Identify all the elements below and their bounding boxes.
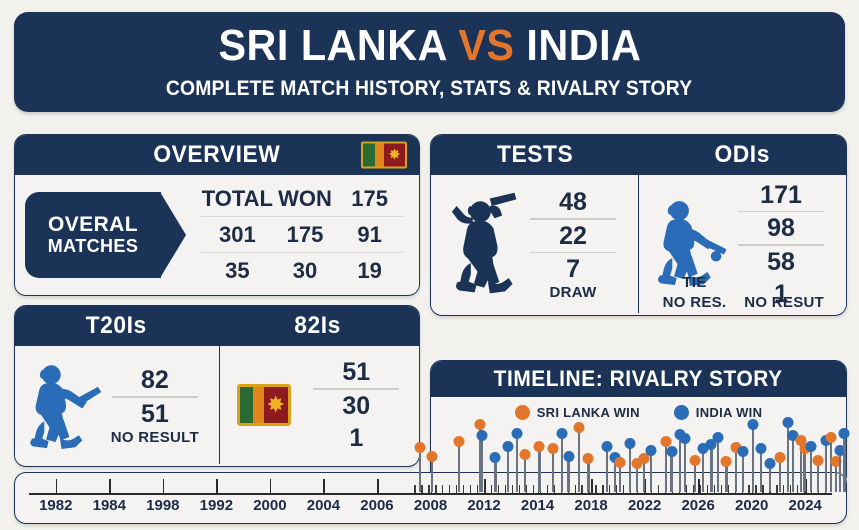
batsman-navy-icon: [431, 188, 522, 300]
title-vs: VS: [458, 21, 514, 70]
axis-minor-tick: [602, 485, 603, 493]
odis-no-resut-label: NO RESUT: [730, 295, 838, 312]
axis-tick: [431, 479, 433, 493]
axis-minor-tick: [825, 485, 826, 493]
axis-minor-tick: [477, 485, 478, 493]
sri-lanka-flag-icon: ✸: [361, 142, 407, 169]
axis-inner: 1982198419981992200020042006200820122014…: [15, 473, 846, 523]
axis-minor-tick: [728, 485, 729, 493]
legend-label: INDIA WIN: [696, 405, 763, 420]
82is-value-2: 30: [342, 390, 370, 422]
82is-stats: 51 30 1: [308, 356, 419, 454]
axis-minor-tick: [491, 485, 492, 493]
axis-minor-tick: [595, 485, 596, 493]
t20is-value-2: 51: [141, 398, 169, 430]
tests-title: TESTS: [497, 141, 573, 169]
axis-minor-tick: [686, 485, 687, 493]
axis-tick: [56, 479, 58, 493]
82is-column: ✸ 51 30 1: [219, 346, 419, 464]
axis-minor-tick: [428, 485, 429, 493]
table-row: 35 30 19: [201, 252, 403, 288]
axis-minor-tick: [512, 485, 513, 493]
title-team-2: INDIA: [526, 21, 641, 70]
axis-minor-tick: [637, 485, 638, 493]
cell-value: 175: [336, 186, 403, 212]
axis-tick: [323, 479, 325, 493]
axis-tick: [216, 479, 218, 493]
axis-minor-tick: [665, 485, 666, 493]
legend-dot-orange: [515, 405, 530, 420]
title-team-1: SRI LANKA: [218, 21, 446, 70]
axis-minor-tick: [818, 485, 819, 493]
axis-label: 2026: [681, 497, 714, 514]
cell-value: 91: [336, 222, 403, 248]
axis-minor-tick: [783, 485, 784, 493]
cell-won: 175: [274, 222, 337, 248]
page-header: SRI LANKA VS INDIA COMPLETE MATCH HISTOR…: [14, 12, 845, 112]
axis-minor-tick: [735, 485, 736, 493]
odis-value-2: 98: [767, 212, 795, 244]
82is-value-1: 51: [342, 356, 370, 388]
page-subtitle: COMPLETE MATCH HISTORY, STATS & RIVALRY …: [166, 77, 692, 101]
overview-title: OVERVIEW: [153, 141, 280, 169]
timeline-card: TIMELINE: RIVALRY STORY SRI LANKA WIN IN…: [430, 360, 847, 487]
cell-won: 30: [274, 258, 337, 284]
t20is-stats: 82 51 NO RESULT: [105, 364, 219, 446]
axis-label: 1992: [200, 497, 233, 514]
axis-minor-tick: [526, 485, 527, 493]
t20-header: T20Is 82Is: [15, 306, 419, 346]
axis-minor-tick: [498, 485, 499, 493]
82is-header: 82Is: [217, 306, 419, 346]
t20is-no-result-label: NO RESULT: [111, 430, 199, 447]
axis-minor-tick: [449, 485, 450, 493]
tests-column: 48 22 7 DRAW: [431, 175, 638, 313]
axis-label: 1984: [93, 497, 126, 514]
axis-minor-tick: [519, 485, 520, 493]
axis-tick: [377, 479, 379, 493]
axis-minor-tick: [769, 485, 770, 493]
axis-minor-tick: [762, 485, 763, 493]
odis-value-1: 171: [760, 179, 802, 211]
axis-minor-tick: [776, 485, 777, 493]
t20is-title: T20Is: [85, 312, 146, 340]
axis-minor-tick: [721, 485, 722, 493]
axis-label: 2024: [789, 497, 822, 514]
axis-minor-tick: [714, 485, 715, 493]
legend-item-sri-lanka: SRI LANKA WIN: [515, 405, 640, 420]
t20-card: T20Is 82Is: [14, 305, 420, 467]
axis-minor-tick: [658, 485, 659, 493]
axis-label: 2020: [735, 497, 768, 514]
timeline-title: TIMELINE: RIVALRY STORY: [494, 366, 783, 392]
t20-body: 82 51 NO RESULT ✸ 5: [15, 346, 419, 464]
cell-total: TOTAL: [201, 186, 274, 212]
axis-minor-tick: [811, 485, 812, 493]
axis-minor-tick: [540, 485, 541, 493]
legend-dot-blue: [674, 405, 689, 420]
odis-tie-label: TIE: [649, 275, 740, 292]
axis-minor-tick: [414, 485, 415, 493]
axis-minor-tick: [533, 485, 534, 493]
t20is-header: T20Is: [15, 306, 217, 346]
odis-column: 171 98 58 1 TIE NO RES. NO RESUT: [638, 175, 846, 313]
odis-value-3: 58: [767, 246, 795, 278]
axis-tick: [270, 479, 272, 493]
axis-minor-tick: [435, 485, 436, 493]
formats-body: 48 22 7 DRAW: [431, 175, 846, 313]
overview-card: OVERVIEW ✸ OVERAL MATCHES TOTAL WON 175: [14, 134, 420, 296]
t20is-value-1: 82: [141, 364, 169, 396]
odis-no-result-label: NO RES.: [649, 295, 740, 312]
axis-minor-tick: [693, 485, 694, 493]
legend-label: SRI LANKA WIN: [537, 405, 640, 420]
axis-minor-tick: [672, 485, 673, 493]
formats-header: TESTS ODIs: [431, 135, 846, 175]
axis-minor-tick: [742, 485, 743, 493]
axis-minor-tick: [505, 485, 506, 493]
axis-minor-tick: [616, 485, 617, 493]
table-row: TOTAL WON 175: [201, 181, 403, 216]
axis-label: 2008: [414, 497, 447, 514]
axis-label: 2004: [307, 497, 340, 514]
timeline-axis-card: 1982198419981992200020042006200820122014…: [14, 472, 847, 524]
odis-title: ODIs: [714, 141, 770, 169]
axis-label: 1982: [39, 497, 72, 514]
axis-minor-tick: [561, 485, 562, 493]
axis-minor-tick: [609, 485, 610, 493]
legend-item-india: INDIA WIN: [674, 405, 763, 420]
axis-label: 2014: [521, 497, 554, 514]
overview-table: TOTAL WON 175 301 175 91 35 30 19: [201, 181, 403, 288]
tests-value-3: 7: [566, 253, 580, 285]
timeline-legend: SRI LANKA WIN INDIA WIN: [431, 397, 846, 427]
axis-minor-tick: [630, 485, 631, 493]
formats-card: TESTS ODIs: [430, 134, 847, 316]
axis-minor-tick: [442, 485, 443, 493]
axis-label: 1998: [146, 497, 179, 514]
axis-tick: [163, 479, 165, 493]
tests-value-1: 48: [559, 186, 587, 218]
axis-minor-tick: [456, 485, 457, 493]
badge-line-2: MATCHES: [48, 236, 138, 256]
axis-tick: [109, 479, 111, 493]
tests-stats: 48 22 7 DRAW: [522, 186, 638, 302]
axis-label: 2000: [253, 497, 286, 514]
axis-minor-tick: [700, 485, 701, 493]
axis-minor-tick: [421, 485, 422, 493]
axis-minor-tick: [707, 485, 708, 493]
axis-minor-tick: [463, 485, 464, 493]
82is-title: 82Is: [295, 312, 342, 340]
axis-minor-tick: [755, 485, 756, 493]
axis-tick: [752, 479, 754, 493]
tests-draw-label: DRAW: [550, 285, 597, 302]
odis-header: ODIs: [639, 135, 847, 175]
cell-total: 35: [201, 258, 274, 284]
axis-tick: [805, 479, 807, 493]
axis-minor-tick: [679, 485, 680, 493]
badge-line-1: OVERAL: [48, 213, 138, 237]
axis-minor-tick: [554, 485, 555, 493]
axis-tick: [591, 479, 593, 493]
axis-minor-tick: [470, 485, 471, 493]
cell-value: 19: [336, 258, 403, 284]
tests-header: TESTS: [431, 135, 639, 175]
axis-minor-tick: [748, 485, 749, 493]
t20is-column: 82 51 NO RESULT: [15, 346, 219, 464]
axis-minor-tick: [581, 485, 582, 493]
axis-minor-tick: [651, 485, 652, 493]
sri-lanka-flag-icon: ✸: [220, 384, 308, 426]
batsman-blue-icon: [15, 352, 105, 458]
axis-minor-tick: [623, 485, 624, 493]
timeline-body: SRI LANKA WIN INDIA WIN: [431, 397, 846, 483]
axis-label: 2022: [628, 497, 661, 514]
82is-value-3: 1: [349, 422, 363, 454]
page-title: SRI LANKA VS INDIA: [218, 24, 641, 68]
axis-minor-tick: [575, 485, 576, 493]
axis-label: 2006: [360, 497, 393, 514]
axis-minor-tick: [547, 485, 548, 493]
overall-matches-badge: OVERAL MATCHES: [25, 192, 161, 278]
axis-label: 2018: [574, 497, 607, 514]
axis-minor-tick: [644, 485, 645, 493]
axis-label: 2012: [467, 497, 500, 514]
axis-line: [29, 493, 832, 495]
overview-header: OVERVIEW ✸: [15, 135, 419, 175]
cell-total: 301: [201, 222, 274, 248]
axis-minor-tick: [790, 485, 791, 493]
axis-minor-tick: [804, 485, 805, 493]
cell-won: WON: [274, 186, 337, 212]
overview-body: OVERAL MATCHES TOTAL WON 175 301 175 91 …: [15, 175, 419, 294]
axis-minor-tick: [588, 485, 589, 493]
odis-stats: 171 98 58 1: [730, 179, 846, 310]
table-row: 301 175 91: [201, 216, 403, 252]
tests-value-2: 22: [559, 220, 587, 252]
axis-minor-tick: [568, 485, 569, 493]
timeline-header: TIMELINE: RIVALRY STORY: [431, 361, 846, 397]
axis-minor-tick: [797, 485, 798, 493]
axis-minor-tick: [484, 485, 485, 493]
infographic-page: SRI LANKA VS INDIA COMPLETE MATCH HISTOR…: [0, 0, 859, 530]
